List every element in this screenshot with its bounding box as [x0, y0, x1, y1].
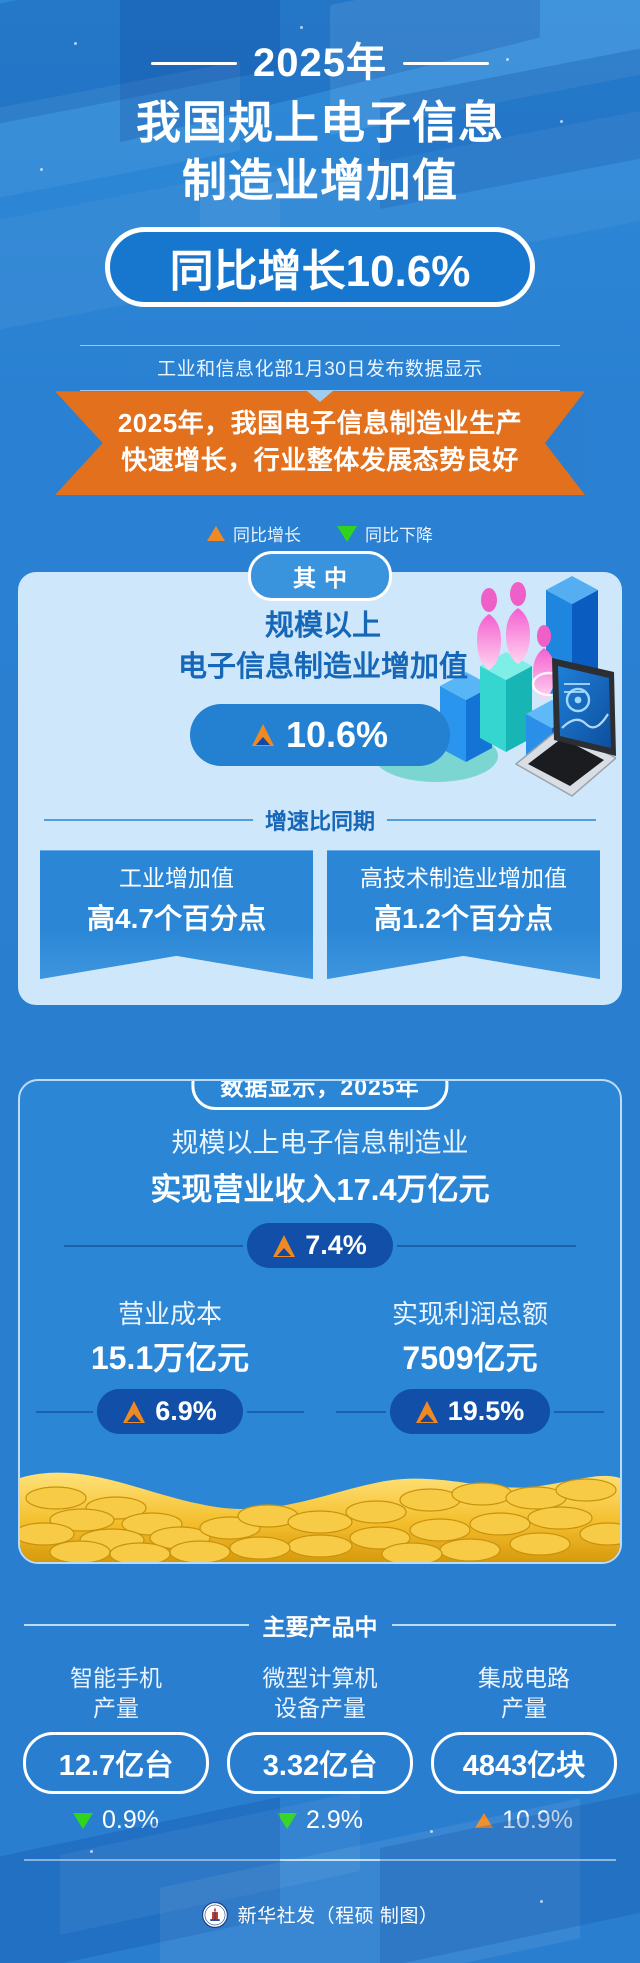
card2-change-badges: 6.9% 19.5%	[20, 1389, 620, 1434]
card1-tag: 其中	[248, 551, 392, 601]
source-line: 工业和信息化部1月30日发布数据显示	[80, 345, 560, 391]
ribbon-label: 高技术制造业增加值	[333, 864, 594, 893]
divider-right	[392, 1624, 617, 1626]
footer-credit: 新华社发（程硕 制图）	[238, 1901, 439, 1928]
product-label-line-1: 智能手机	[14, 1664, 218, 1693]
rule-right	[403, 62, 489, 65]
title-line-2: 制造业增加值	[0, 152, 640, 210]
badge-rule-right	[247, 1411, 304, 1413]
year-label: 2025年	[253, 42, 387, 84]
ribbon-value: 高1.2个百分点	[333, 897, 594, 937]
legend-item-decrease: 同比下降	[337, 521, 433, 546]
legend-decrease-label: 同比下降	[365, 521, 433, 546]
product-value: 3.32亿台	[227, 1732, 413, 1794]
product-label: 智能手机 产量	[14, 1664, 218, 1724]
ribbon-label: 工业增加值	[46, 864, 307, 893]
card2-cost-change-cell: 6.9%	[20, 1389, 320, 1434]
card2-columns: 营业成本 15.1万亿元 实现利润总额 7509亿元	[20, 1294, 620, 1379]
infographic-page: 2025年 我国规上电子信息 制造业增加值 同比增长10.6% 工业和信息化部1…	[0, 0, 640, 1963]
card1-heading: 规模以上 电子信息制造业增加值	[18, 606, 622, 688]
triangle-up-icon	[207, 526, 225, 541]
card2-profit-change-value: 19.5%	[448, 1396, 525, 1427]
product-label-line-2: 产量	[422, 1694, 626, 1723]
header: 2025年 我国规上电子信息 制造业增加值 同比增长10.6%	[0, 0, 640, 307]
page-title: 我国规上电子信息 制造业增加值	[0, 94, 640, 209]
legend: 同比增长 同比下降	[0, 521, 640, 546]
col-value: 15.1万亿元	[20, 1333, 320, 1379]
triangle-down-icon	[337, 526, 357, 542]
rule-left	[151, 62, 237, 65]
card2-cost-change-value: 6.9%	[155, 1396, 217, 1427]
xinhua-logo-icon	[202, 1902, 228, 1928]
bottom-decoration	[0, 1793, 640, 1963]
card-value-added: 其中	[18, 572, 622, 1005]
banner-line-1: 2025年，我国电子信息制造业生产	[113, 405, 527, 442]
arrow-up-icon	[123, 1401, 145, 1423]
badge-rule-right	[554, 1411, 604, 1413]
source-text: 工业和信息化部1月30日发布数据显示	[80, 346, 560, 390]
ribbon-value: 高4.7个百分点	[46, 897, 307, 937]
card2-col-cost: 营业成本 15.1万亿元	[20, 1294, 320, 1379]
divider-left	[24, 1624, 249, 1626]
divider-left	[44, 819, 253, 821]
badge-rule-left	[336, 1411, 386, 1413]
legend-increase-label: 同比增长	[233, 521, 301, 546]
arrow-up-icon	[252, 724, 274, 746]
year-row: 2025年	[0, 42, 640, 84]
card2-profit-change-badge: 19.5%	[390, 1389, 551, 1434]
card2-main-change-row: 7.4%	[20, 1223, 620, 1268]
card2-line-2: 实现营业收入17.4万亿元	[20, 1164, 620, 1209]
card1-subsection-title: 增速比同期	[265, 804, 375, 836]
arrow-up-icon	[416, 1401, 438, 1423]
change-rule-right	[397, 1245, 576, 1247]
card2-main-change-value: 7.4%	[305, 1230, 367, 1261]
card1-value: 10.6%	[286, 714, 388, 756]
ribbon-industrial: 工业增加值 高4.7个百分点	[40, 850, 313, 979]
products-divider: 主要产品中	[24, 1608, 616, 1642]
title-line-1: 我国规上电子信息	[0, 94, 640, 152]
highlight-banner: 2025年，我国电子信息制造业生产 快速增长，行业整体发展态势良好	[55, 391, 585, 495]
col-label: 实现利润总额	[320, 1294, 620, 1331]
card1-subsection-divider: 增速比同期	[44, 804, 596, 836]
card1-heading-line-1: 规模以上	[24, 606, 622, 647]
product-label-line-2: 设备产量	[218, 1694, 422, 1723]
card2-col-profit: 实现利润总额 7509亿元	[320, 1294, 620, 1379]
product-value: 12.7亿台	[23, 1732, 209, 1794]
card-revenue: 数据显示，2025年 规模以上电子信息制造业 实现营业收入17.4万亿元 7.4…	[18, 1079, 622, 1564]
product-label: 微型计算机 设备产量	[218, 1664, 422, 1724]
footer: 新华社发（程硕 制图）	[0, 1901, 640, 1928]
headline-stat-pill: 同比增长10.6%	[105, 227, 535, 307]
legend-item-increase: 同比增长	[207, 521, 301, 546]
product-label-line-2: 产量	[14, 1694, 218, 1723]
ribbon-hightech: 高技术制造业增加值 高1.2个百分点	[327, 850, 600, 979]
banner-pointer-icon	[306, 390, 334, 402]
col-value: 7509亿元	[320, 1333, 620, 1379]
gold-coins-illustration	[20, 1442, 620, 1562]
card2-cost-change-badge: 6.9%	[97, 1389, 243, 1434]
card1-ribbons: 工业增加值 高4.7个百分点 高技术制造业增加值 高1.2个百分点	[40, 850, 600, 979]
divider-right	[387, 819, 596, 821]
products-title: 主要产品中	[263, 1608, 378, 1642]
card1-heading-line-2: 电子信息制造业增加值	[24, 647, 622, 688]
product-label-line-1: 集成电路	[422, 1664, 626, 1693]
highlight-banner-wrap: 2025年，我国电子信息制造业生产 快速增长，行业整体发展态势良好	[55, 391, 585, 495]
badge-rule-left	[36, 1411, 93, 1413]
banner-line-2: 快速增长，行业整体发展态势良好	[113, 442, 527, 479]
change-rule-left	[64, 1245, 243, 1247]
col-label: 营业成本	[20, 1294, 320, 1331]
card2-main-change-badge: 7.4%	[247, 1223, 393, 1268]
card2-line-1: 规模以上电子信息制造业	[20, 1121, 620, 1160]
product-value: 4843亿块	[431, 1732, 617, 1794]
card2-tag: 数据显示，2025年	[191, 1079, 448, 1110]
arrow-up-icon	[273, 1235, 295, 1257]
card1-value-pill: 10.6%	[190, 704, 450, 766]
product-label: 集成电路 产量	[422, 1664, 626, 1724]
card2-profit-change-cell: 19.5%	[320, 1389, 620, 1434]
product-label-line-1: 微型计算机	[218, 1664, 422, 1693]
